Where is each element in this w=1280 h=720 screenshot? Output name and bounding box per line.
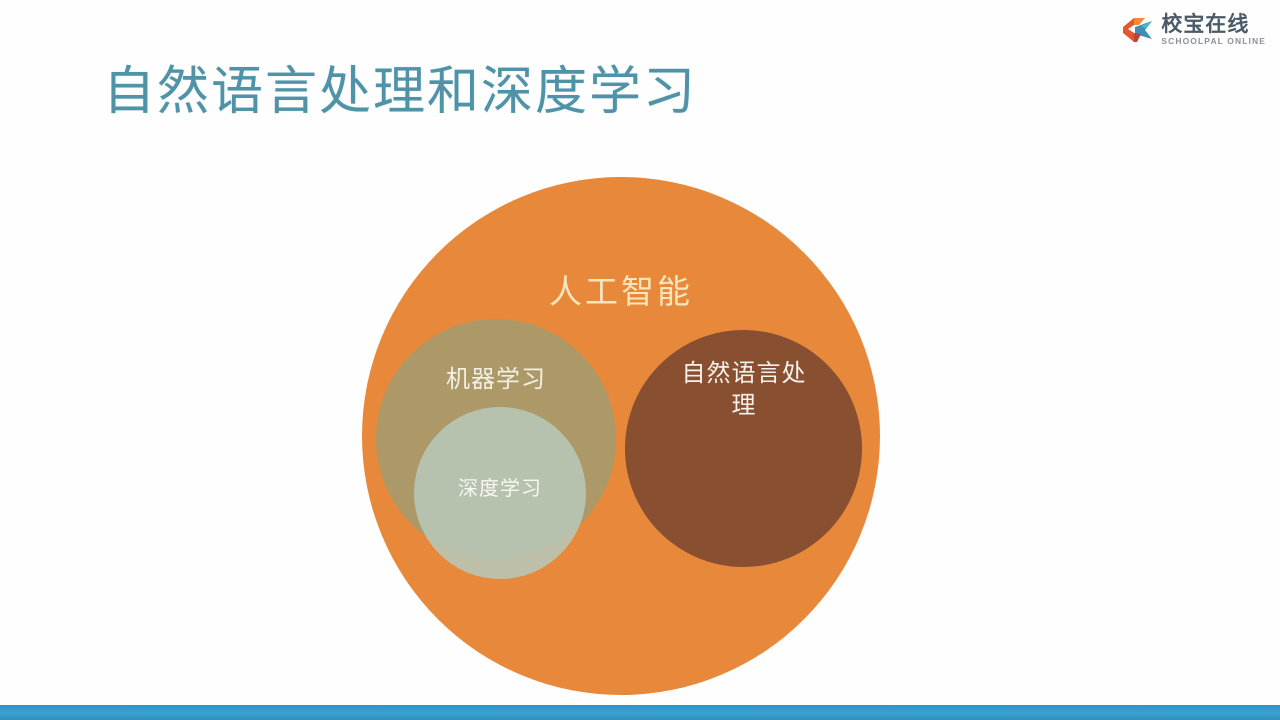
bottom-accent-bar	[0, 705, 1280, 720]
slide-title: 自然语言处理和深度学习	[103, 63, 697, 123]
slide-canvas: 校宝在线 SCHOOLPAL ONLINE 自然语言处理和深度学习 人工智能 机…	[0, 0, 1280, 720]
brand-logo: 校宝在线 SCHOOLPAL ONLINE	[1121, 14, 1266, 46]
venn-diagram: 人工智能 机器学习 自然语言处 理 深度学习	[362, 177, 880, 695]
brand-name-en: SCHOOLPAL ONLINE	[1161, 37, 1266, 46]
label-machine-learning: 机器学习	[376, 359, 616, 394]
brand-name-cn: 校宝在线	[1161, 14, 1266, 35]
label-artificial-intelligence: 人工智能	[362, 265, 880, 313]
label-natural-language-processing: 自然语言处 理	[637, 357, 851, 422]
brand-logo-text: 校宝在线 SCHOOLPAL ONLINE	[1161, 14, 1266, 46]
label-deep-learning: 深度学习	[414, 472, 586, 501]
schoolpal-mark-icon	[1121, 15, 1155, 45]
